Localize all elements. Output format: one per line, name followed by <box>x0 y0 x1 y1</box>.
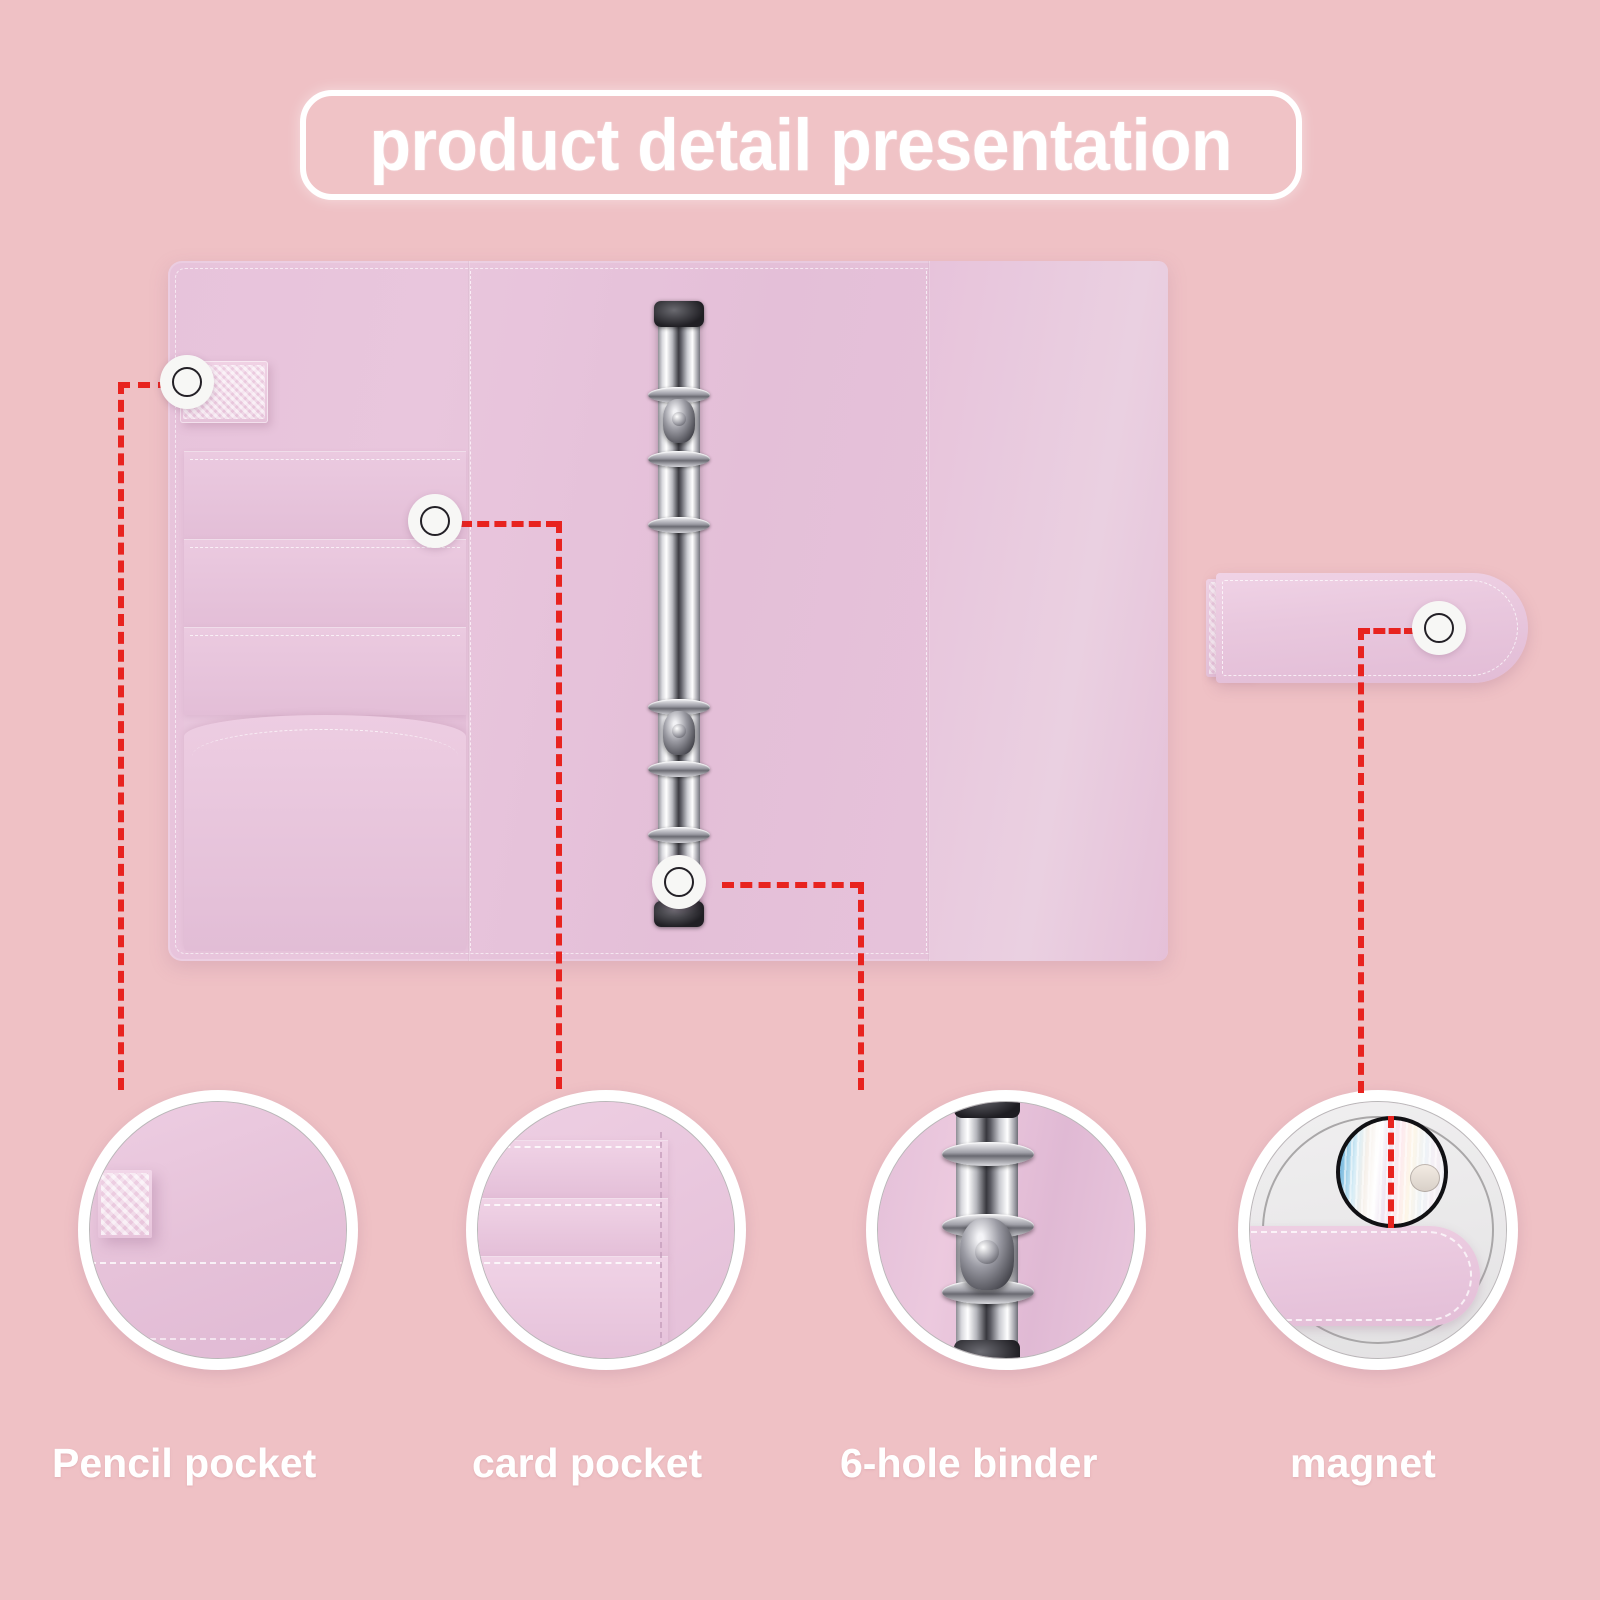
binder-release-lever[interactable] <box>663 711 695 755</box>
right-panel <box>930 261 1168 961</box>
binder-release-lever-closeup <box>960 1218 1014 1290</box>
card-slot <box>184 539 466 627</box>
callout-dot-card-pocket[interactable] <box>408 494 462 548</box>
six-hole-binder-mechanism <box>646 299 712 929</box>
title-banner: product detail presentation <box>300 90 1302 200</box>
binder-ring <box>648 761 710 777</box>
callout-line-pencil-pocket-v <box>118 382 124 1090</box>
binder-end-cap-top <box>654 301 704 327</box>
fold-stitch-right <box>926 271 927 951</box>
product-photo <box>150 245 1280 975</box>
binder-end-cap-bottom <box>954 1340 1020 1359</box>
page-title: product detail presentation <box>370 104 1233 187</box>
card-slot-closeup <box>477 1198 668 1256</box>
callout-line-magnet-v <box>1358 628 1364 1093</box>
card-slot <box>184 627 466 715</box>
card-slot-closeup <box>477 1256 668 1359</box>
detail-circle-card-pocket-image <box>477 1101 735 1359</box>
detail-circle-pencil-pocket-image <box>89 1101 347 1359</box>
detail-circle-card-pocket[interactable] <box>466 1090 746 1370</box>
binder-ring-closeup <box>942 1142 1034 1166</box>
callout-dot-binder[interactable] <box>652 855 706 909</box>
fold-stitch-left <box>470 271 471 951</box>
magnet-strap-closeup <box>1249 1226 1480 1326</box>
presentation-canvas: product detail presentation <box>0 0 1600 1600</box>
stitch-seam <box>90 1262 346 1264</box>
callout-line-card-pocket-h <box>460 521 558 527</box>
callout-line-binder-v <box>858 882 864 1090</box>
detail-label-magnet: magnet <box>1290 1440 1436 1487</box>
callout-line-binder-h <box>722 882 862 888</box>
detail-label-pencil-pocket: Pencil pocket <box>52 1440 316 1487</box>
detail-label-binder: 6-hole binder <box>840 1440 1097 1487</box>
stitch-seam <box>110 1338 326 1340</box>
binder-ring <box>648 451 710 467</box>
card-slot-closeup <box>477 1140 668 1198</box>
detail-circle-binder-image <box>877 1101 1135 1359</box>
detail-circle-magnet[interactable] <box>1238 1090 1518 1370</box>
large-pocket <box>184 715 466 951</box>
callout-dot-magnet[interactable] <box>1412 601 1466 655</box>
pencil-loop-closeup <box>98 1170 152 1238</box>
detail-circle-magnet-image <box>1249 1101 1507 1359</box>
binder-ring <box>648 827 710 843</box>
callout-dot-pencil-pocket[interactable] <box>160 355 214 409</box>
detail-label-card-pocket: card pocket <box>472 1440 702 1487</box>
magnet-disc <box>1410 1164 1440 1192</box>
detail-circle-binder[interactable] <box>866 1090 1146 1370</box>
pencil-loop-webbing <box>101 1173 149 1235</box>
callout-line-magnet-h <box>1358 628 1416 634</box>
binder-end-cap-top <box>954 1101 1020 1118</box>
detail-circle-pencil-pocket[interactable] <box>78 1090 358 1370</box>
stitch-seam <box>660 1132 662 1358</box>
binder-release-lever[interactable] <box>663 399 695 443</box>
callout-line-magnet-inset <box>1388 1116 1394 1228</box>
binder-ring <box>648 517 710 533</box>
callout-line-card-pocket-v <box>556 521 562 1089</box>
